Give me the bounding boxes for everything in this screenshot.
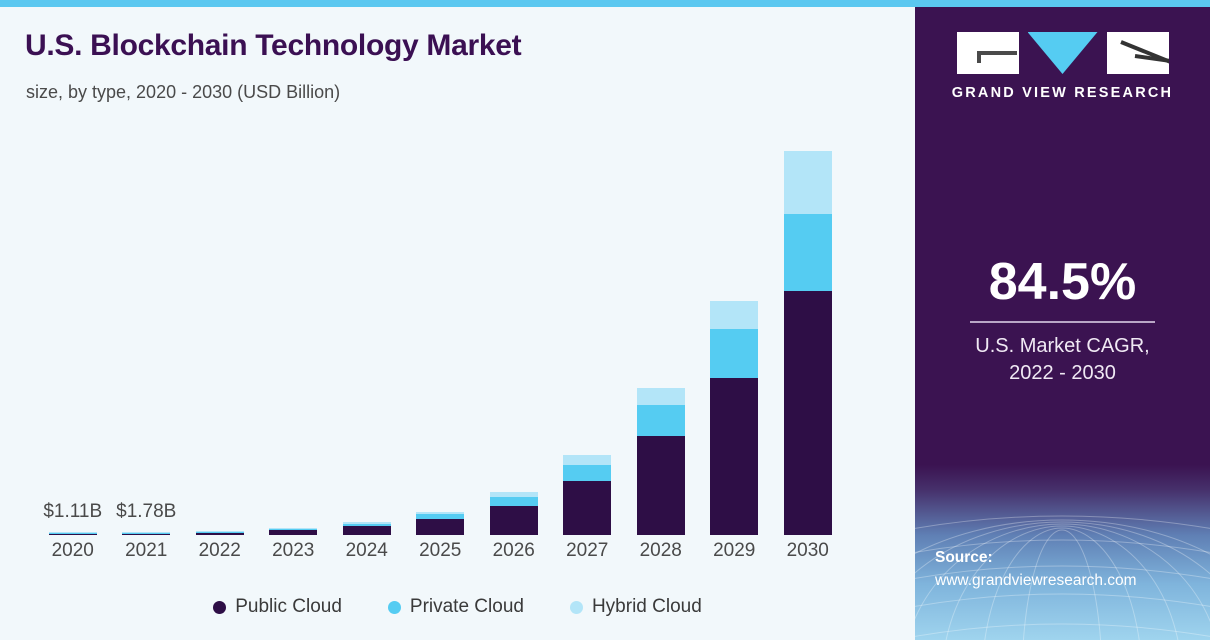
legend-label: Private Cloud xyxy=(410,596,524,618)
logo-wordmark: GRAND VIEW RESEARCH xyxy=(952,85,1173,101)
logo-g-icon xyxy=(957,32,1019,74)
bar-2026 xyxy=(490,492,538,535)
cagr-value: 84.5% xyxy=(915,255,1210,310)
brand-logo: GRAND VIEW RESEARCH xyxy=(915,32,1210,101)
bar-segment-public-2030 xyxy=(784,291,832,535)
source-url: www.grandviewresearch.com xyxy=(935,570,1137,592)
bar-2027 xyxy=(563,455,611,535)
legend-item-public-cloud[interactable]: Public Cloud xyxy=(213,596,342,618)
x-axis-tick-2030: 2030 xyxy=(771,540,845,562)
source-block: Source: www.grandviewresearch.com xyxy=(935,547,1137,592)
brand-sidebar: GRAND VIEW RESEARCH 84.5% U.S. Market CA… xyxy=(915,7,1210,640)
x-axis-tick-2025: 2025 xyxy=(404,540,478,562)
source-label: Source: xyxy=(935,547,1137,569)
cagr-divider xyxy=(970,321,1155,323)
top-accent-stripe xyxy=(0,0,1210,7)
bar-2024 xyxy=(343,522,391,535)
chart-legend: Public CloudPrivate CloudHybrid Cloud xyxy=(0,596,915,618)
bar-2020 xyxy=(49,532,97,535)
x-axis-tick-2027: 2027 xyxy=(551,540,625,562)
x-axis-tick-2026: 2026 xyxy=(477,540,551,562)
globe-graphic: Source: www.grandviewresearch.com xyxy=(915,465,1210,640)
x-axis-tick-2020: 2020 xyxy=(36,540,110,562)
bar-segment-public-2027 xyxy=(563,481,611,535)
data-label-2021: $1.78B xyxy=(104,501,190,523)
logo-r-icon xyxy=(1107,32,1169,74)
bar-2023 xyxy=(269,528,317,535)
legend-item-hybrid-cloud[interactable]: Hybrid Cloud xyxy=(570,596,702,618)
bar-segment-private-2030 xyxy=(784,214,832,291)
bar-2022 xyxy=(196,531,244,535)
bar-segment-private-2027 xyxy=(563,465,611,482)
bar-segment-hybrid-2030 xyxy=(784,151,832,214)
x-axis-tick-2028: 2028 xyxy=(624,540,698,562)
bar-segment-public-2028 xyxy=(637,436,685,535)
legend-item-private-cloud[interactable]: Private Cloud xyxy=(388,596,524,618)
bar-segment-hybrid-2028 xyxy=(637,388,685,406)
logo-triangle-icon xyxy=(1028,32,1098,74)
bar-segment-public-2021 xyxy=(122,534,170,535)
bar-2030 xyxy=(784,151,832,535)
chart-panel: U.S. Blockchain Technology Market size, … xyxy=(0,7,915,640)
legend-swatch-icon xyxy=(388,601,401,614)
legend-label: Hybrid Cloud xyxy=(592,596,702,618)
legend-swatch-icon xyxy=(213,601,226,614)
logo-marks xyxy=(957,32,1169,74)
bar-segment-private-2028 xyxy=(637,405,685,436)
bar-segment-hybrid-2027 xyxy=(563,455,611,465)
bar-2025 xyxy=(416,512,464,536)
infographic-root: U.S. Blockchain Technology Market size, … xyxy=(0,0,1210,640)
legend-swatch-icon xyxy=(570,601,583,614)
bar-chart-plot: 2020202120222023202420252026202720282029… xyxy=(0,7,915,640)
bar-2029 xyxy=(710,301,758,535)
bar-segment-public-2029 xyxy=(710,378,758,535)
cagr-caption-line2: 2022 - 2030 xyxy=(915,360,1210,387)
x-axis-tick-2021: 2021 xyxy=(110,540,184,562)
bar-segment-public-2023 xyxy=(269,530,317,535)
bar-segment-public-2026 xyxy=(490,506,538,535)
bar-2021 xyxy=(122,532,170,535)
x-axis-tick-2029: 2029 xyxy=(698,540,772,562)
bar-segment-public-2025 xyxy=(416,519,464,535)
bar-segment-public-2024 xyxy=(343,526,391,535)
bar-segment-private-2029 xyxy=(710,329,758,378)
bar-segment-hybrid-2029 xyxy=(710,301,758,329)
legend-label: Public Cloud xyxy=(235,596,342,618)
bar-segment-private-2026 xyxy=(490,497,538,506)
bar-2028 xyxy=(637,388,685,535)
cagr-block: 84.5% U.S. Market CAGR, 2022 - 2030 xyxy=(915,255,1210,387)
bar-segment-public-2020 xyxy=(49,534,97,535)
x-axis-tick-2023: 2023 xyxy=(257,540,331,562)
x-axis-tick-2022: 2022 xyxy=(183,540,257,562)
x-axis-tick-2024: 2024 xyxy=(330,540,404,562)
cagr-caption-line1: U.S. Market CAGR, xyxy=(915,333,1210,360)
bar-segment-public-2022 xyxy=(196,533,244,535)
